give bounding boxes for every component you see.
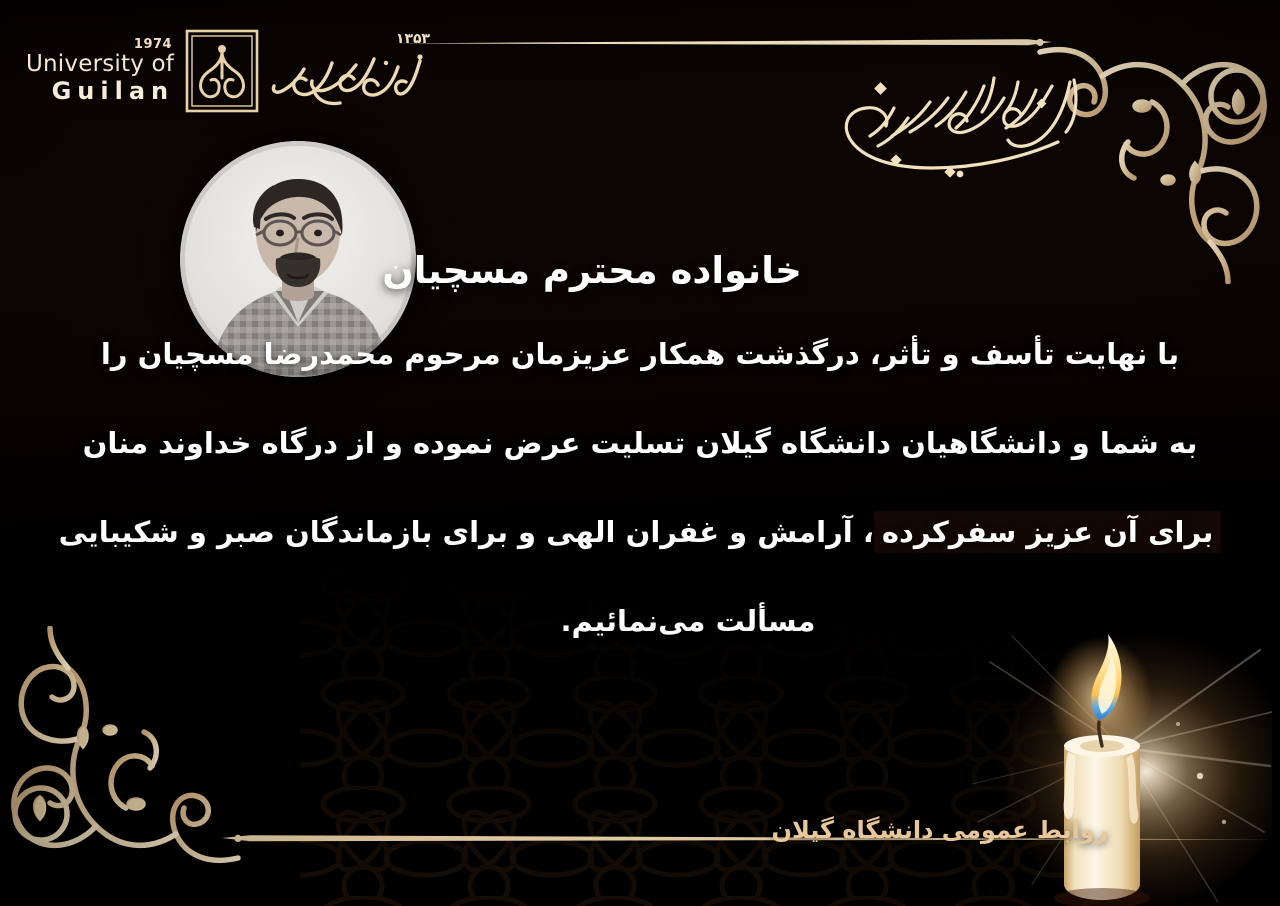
body-line-1: با نهایت تأسف و تأثر، درگذشت همکار عزیزم… [0, 340, 1280, 369]
body-line-3: برای آن عزیز سفرکرده، آرامش و غفران الهی… [0, 518, 1280, 547]
body-line-4: مسألت می‌نمائیم. [96, 607, 1280, 636]
salutation-heading: خانواده محترم مسچیان [0, 248, 1184, 294]
university-logo-english: 1974 University of Guilan [26, 38, 174, 103]
footer-public-relations: روابط عمومی دانشگاه گیلان [772, 816, 1109, 844]
logo-year-gregorian: 1974 [134, 38, 172, 52]
university-logo: 1974 University of Guilan ۱۳۵۳ [26, 28, 434, 114]
university-persian-name-calligraphy [270, 45, 434, 111]
body-line-3-rest: ، آرامش و غفران الهی و برای بازماندگان ص… [59, 515, 874, 549]
university-logo-persian: ۱۳۵۳ [270, 31, 434, 111]
condolence-body: با نهایت تأسف و تأثر، درگذشت همکار عزیزم… [0, 340, 1280, 636]
logo-english-line1: University of [26, 53, 174, 77]
university-emblem-icon [184, 28, 260, 114]
body-line-2: به شما و دانشگاهیان دانشگاه گیلان تسلیت … [0, 429, 1280, 458]
lit-candle [972, 616, 1272, 906]
footer: روابط عمومی دانشگاه گیلان [0, 816, 1280, 844]
logo-english-line2: Guilan [52, 79, 175, 104]
innama-ashku-calligraphy [808, 46, 1108, 196]
condolence-poster: 1974 University of Guilan ۱۳۵۳ [0, 0, 1280, 906]
arabesque-corner-ornament-bottom-left [6, 626, 246, 896]
announcement-text: خانواده محترم مسچیان با نهایت تأسف و تأث… [0, 248, 1280, 636]
gold-tapered-rule-bottom [222, 832, 1280, 846]
highlighted-phrase: برای آن عزیز سفرکرده [874, 511, 1222, 553]
